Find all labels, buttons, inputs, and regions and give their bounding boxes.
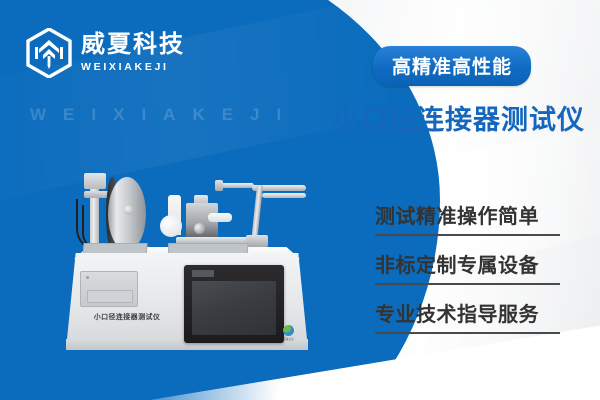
list-item: 非标定制专属设备: [375, 249, 560, 285]
right-arm-rod: [262, 193, 306, 198]
product-image: 小口径连接器测试仪 环保认证: [48, 155, 338, 370]
product-banner: 威夏科技 WEIXIAKEJI WEIXIAKEJI 高精准高性能 小口径连接器…: [0, 0, 600, 400]
list-item: 专业技术指导服务: [375, 298, 560, 334]
feature-label: 测试精准操作简单: [375, 200, 560, 229]
brand-logo-text: 威夏科技 WEIXIAKEJI: [81, 33, 185, 73]
left-post-head: [84, 173, 106, 189]
white-disc-fixture: [160, 215, 182, 237]
mid-fixture-knob: [194, 223, 205, 234]
right-pin-rod: [220, 183, 254, 188]
hexagon-shield-logo-icon: [26, 28, 72, 78]
machine-front-label: 小口径连接器测试仪: [72, 312, 182, 322]
right-arm-base: [246, 235, 268, 247]
brand-name-en: WEIXIAKEJI: [81, 62, 185, 73]
feature-label: 非标定制专属设备: [375, 249, 560, 278]
headline-badge: 高精准高性能: [373, 46, 531, 86]
disc-hub: [124, 205, 134, 215]
touchscreen-bezel: [184, 265, 284, 343]
screen-brand-mark: [192, 270, 214, 277]
front-access-panel: [80, 271, 138, 307]
eco-circle-glyph: [283, 325, 294, 336]
feature-list: 测试精准操作简单 非标定制专属设备 专业技术指导服务: [375, 200, 560, 334]
brand-logo: 威夏科技 WEIXIAKEJI: [26, 28, 185, 78]
list-item: 测试精准操作简单: [375, 200, 560, 236]
watermark-text: WEIXIAKEJI: [30, 105, 298, 125]
feature-label: 专业技术指导服务: [375, 298, 560, 327]
page-title: 小口径连接器测试仪: [333, 98, 585, 137]
eco-badge-label: 环保认证: [283, 337, 294, 341]
white-bar-fixture: [208, 213, 232, 222]
brand-name-cn: 威夏科技: [81, 33, 185, 57]
touchscreen-display: [192, 281, 276, 335]
eco-certification-icon: 环保认证: [280, 323, 297, 342]
